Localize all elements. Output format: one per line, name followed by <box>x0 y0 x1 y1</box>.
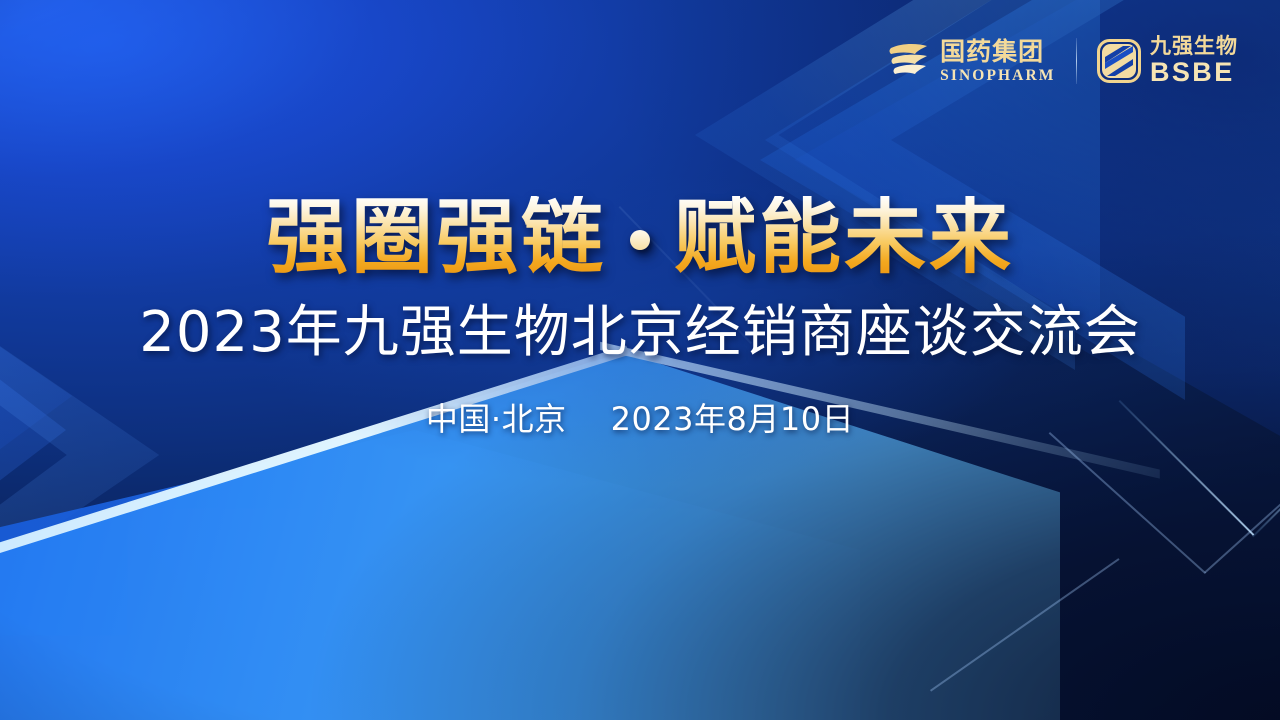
logo-divider-icon <box>1076 38 1078 84</box>
bsbe-logo[interactable]: 九强生物 BSBE <box>1097 36 1238 86</box>
logo-bar: 国药集团 SINOPHARM 九强生物 BSBE <box>887 36 1238 86</box>
bullet-dot-icon <box>630 230 650 250</box>
bsbe-name-en: BSBE <box>1150 59 1238 86</box>
hero-content: 强圈强链 赋能未来 2023年九强生物北京经销商座谈交流会 中国·北京 2023… <box>0 196 1280 440</box>
sinopharm-name-en: SINOPHARM <box>940 68 1055 84</box>
bsbe-s-monogram-icon <box>1097 39 1141 83</box>
event-subtitle: 2023年九强生物北京经销商座谈交流会 <box>0 302 1280 365</box>
sinopharm-logo[interactable]: 国药集团 SINOPHARM <box>887 39 1055 84</box>
bsbe-name-cn: 九强生物 <box>1150 36 1238 57</box>
headline-right-phrase: 赋能未来 <box>674 196 1014 280</box>
sinopharm-name-cn: 国药集团 <box>940 39 1055 64</box>
page-title: 强圈强链 赋能未来 <box>0 196 1280 280</box>
event-location: 中国·北京 <box>426 394 567 440</box>
event-banner-slide: 国药集团 SINOPHARM 九强生物 BSBE 强圈强链 赋能未来 <box>0 0 1280 720</box>
event-meta: 中国·北京 2023年8月10日 <box>0 394 1280 440</box>
headline-left-phrase: 强圈强链 <box>266 196 606 280</box>
event-date: 2023年8月10日 <box>611 394 855 440</box>
sinopharm-wave-icon <box>887 41 931 81</box>
